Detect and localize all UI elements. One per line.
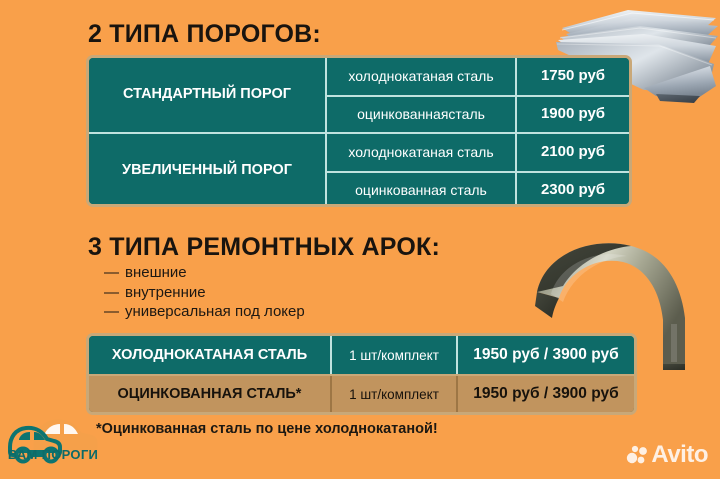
promo-page: 2 ТИПА ПОРОГОВ: СТАНДАРТНЫЙ ПОРОГ холодн… (0, 0, 720, 479)
dash-bullet: — (104, 284, 119, 301)
footnote-text: *Оцинкованная сталь по цене холоднокатан… (96, 421, 438, 437)
price-value: 1750 руб (517, 58, 629, 95)
avito-dots-icon (626, 444, 648, 466)
list-item-label: универсальная под локер (125, 303, 305, 320)
page-title-arches: 3 ТИПА РЕМОНТНЫХ АРОК: (88, 233, 440, 262)
sill-type-name: СТАНДАРТНЫЙ ПОРОГ (89, 58, 327, 132)
price-value: 2100 руб (517, 134, 629, 171)
brand-name: ВАМ ПОРОГИ (7, 447, 99, 462)
list-item: —внутренние (104, 283, 305, 303)
price-value: 1950 руб / 3900 руб (458, 376, 634, 412)
price-value: 1900 руб (517, 97, 629, 132)
price-value: 1950 руб / 3900 руб (458, 336, 634, 374)
dash-bullet: — (104, 303, 119, 320)
quantity-label: 1 шт/комплект (332, 376, 458, 412)
table-row: ХОЛОДНОКАТАНАЯ СТАЛЬ 1 шт/комплект 1950 … (89, 336, 634, 374)
price-value: 2300 руб (517, 173, 629, 207)
list-item-label: внешние (125, 264, 187, 281)
table-row-group: УВЕЛИЧЕННЫЙ ПОРОГ холоднокатаная сталь 2… (89, 132, 629, 207)
page-title-sills: 2 ТИПА ПОРОГОВ: (88, 20, 321, 49)
table-row: оцинкованная сталь 2300 руб (327, 171, 629, 207)
material-label: ХОЛОДНОКАТАНАЯ СТАЛЬ (89, 336, 332, 374)
material-label: холоднокатаная сталь (327, 58, 517, 95)
material-label: ОЦИНКОВАННАЯ СТАЛЬ* (89, 376, 332, 412)
quantity-label: 1 шт/комплект (332, 336, 458, 374)
table-row: холоднокатаная сталь 2100 руб (327, 134, 629, 171)
avito-label: Avito (651, 441, 708, 469)
dash-bullet: — (104, 264, 119, 281)
material-label: оцинкованнаясталь (327, 97, 517, 132)
material-label: оцинкованная сталь (327, 173, 517, 207)
sill-type-name: УВЕЛИЧЕННЫЙ ПОРОГ (89, 134, 327, 207)
table-row: ОЦИНКОВАННАЯ СТАЛЬ* 1 шт/комплект 1950 р… (89, 374, 634, 412)
material-label: холоднокатаная сталь (327, 134, 517, 171)
table-row: оцинкованнаясталь 1900 руб (327, 95, 629, 132)
sills-price-table: СТАНДАРТНЫЙ ПОРОГ холоднокатаная сталь 1… (86, 55, 632, 207)
list-item-label: внутренние (125, 284, 206, 301)
arch-types-list: —внешние —внутренние —универсальная под … (104, 263, 305, 322)
list-item: —внешние (104, 263, 305, 283)
avito-watermark: Avito (626, 441, 708, 469)
table-row-group: СТАНДАРТНЫЙ ПОРОГ холоднокатаная сталь 1… (89, 58, 629, 132)
table-row: холоднокатаная сталь 1750 руб (327, 58, 629, 95)
arches-price-table: ХОЛОДНОКАТАНАЯ СТАЛЬ 1 шт/комплект 1950 … (86, 333, 637, 415)
list-item: —универсальная под локер (104, 302, 305, 322)
